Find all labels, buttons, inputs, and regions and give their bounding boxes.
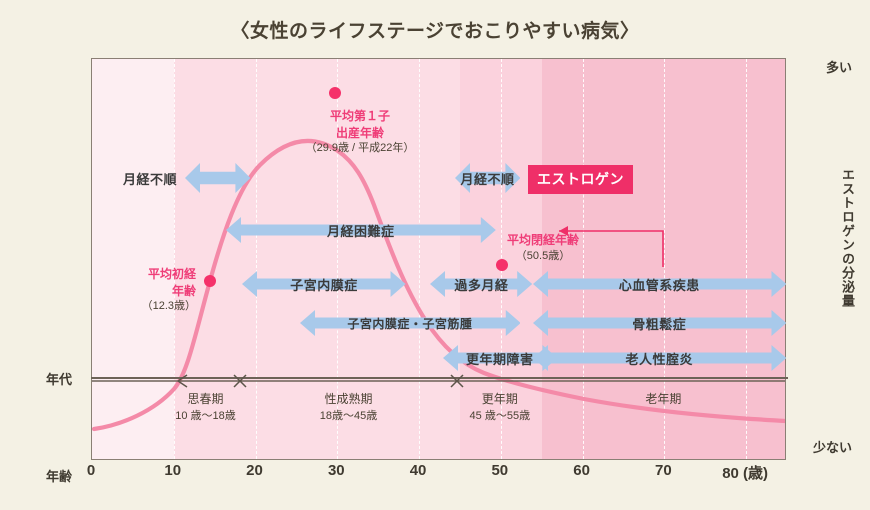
- life-stage-axis: [91, 378, 786, 382]
- condition-label: 月経不順: [455, 163, 520, 193]
- condition-bar: 月経困難症: [226, 217, 496, 243]
- condition-bar: 老人性腟炎: [533, 345, 786, 371]
- stage-name: 性成熟期: [279, 390, 419, 408]
- x-tick-8: 80 (歳): [722, 462, 768, 483]
- annotation-sub: （29.9歳 / 平成22年）: [272, 141, 448, 156]
- x-tick-7: 70: [655, 462, 672, 479]
- annotation-line1: 平均初経: [98, 266, 196, 283]
- stage-range: 18歳〜45歳: [279, 408, 419, 425]
- stage-range: 10 歳〜18歳: [135, 408, 275, 425]
- page-title: 〈女性のライフステージでおこりやすい病気〉: [0, 16, 870, 43]
- stage-range: 45 歳〜55歳: [430, 408, 570, 425]
- stage-label-0: 思春期10 歳〜18歳: [135, 390, 275, 425]
- annotation-line1: 平均第１子: [272, 108, 448, 125]
- annotation-first-childbirth: 平均第１子 出産年齢 （29.9歳 / 平成22年）: [272, 108, 448, 156]
- x-tick-1: 10: [164, 462, 181, 479]
- condition-bar: 子宮内膜症・子宮筋腫: [300, 310, 521, 336]
- annotation-line1: 平均閉経年齢: [482, 232, 604, 249]
- condition-bar: 心血管系疾患: [533, 271, 786, 297]
- condition-label: 心血管系疾患: [533, 271, 786, 297]
- condition-label: 子宮内膜症: [242, 271, 406, 297]
- x-tick-3: 30: [328, 462, 345, 479]
- condition-label: 過多月経: [430, 271, 532, 297]
- condition-bar: 過多月経: [430, 271, 532, 297]
- marker-first-childbirth: [329, 87, 341, 99]
- annotation-sub: （50.5歳）: [482, 249, 604, 264]
- condition-bar: 子宮内膜症: [242, 271, 406, 297]
- axis-label-high: 多い: [826, 57, 852, 76]
- chart-root: 〈女性のライフステージでおこりやすい病気〉 月経不順月経不順月経困難症子宮内膜症…: [0, 0, 870, 510]
- condition-label: 老人性腟炎: [533, 345, 786, 371]
- axis-label-era: 年代: [46, 369, 72, 388]
- condition-bar: 骨粗鬆症: [533, 310, 786, 336]
- estrogen-legend-badge: エストロゲン: [528, 165, 633, 194]
- x-tick-5: 50: [491, 462, 508, 479]
- condition-bar: 月経不順: [185, 163, 250, 193]
- condition-label: 月経不順: [123, 163, 250, 193]
- annotation-menarche: 平均初経 年齢 （12.3歳）: [98, 266, 196, 314]
- axis-label-age: 年齢: [46, 466, 72, 485]
- stage-label-3: 老年期: [593, 390, 733, 408]
- condition-bar: 月経不順: [455, 163, 520, 193]
- axis-label-low: 少ない: [813, 437, 852, 456]
- marker-menarche: [204, 275, 216, 287]
- stage-divider-mark: [231, 372, 249, 390]
- condition-label: 骨粗鬆症: [533, 310, 786, 336]
- x-tick-6: 60: [573, 462, 590, 479]
- stage-divider-mark: [176, 372, 194, 390]
- x-tick-0: 0: [87, 462, 95, 479]
- x-axis-ticks: 01020304050607080 (歳): [91, 462, 851, 486]
- annotation-line2: 年齢: [98, 283, 196, 300]
- annotation-sub: （12.3歳）: [98, 299, 196, 314]
- condition-label: 月経困難症: [226, 217, 496, 243]
- stage-name: 更年期: [430, 390, 570, 408]
- x-tick-4: 40: [410, 462, 427, 479]
- x-tick-2: 20: [246, 462, 263, 479]
- stage-name: 思春期: [135, 390, 275, 408]
- stage-label-1: 性成熟期18歳〜45歳: [279, 390, 419, 425]
- annotation-menopause: 平均閉経年齢 （50.5歳）: [482, 232, 604, 264]
- axis-title-estrogen-secretion: エストロゲンの分泌量: [838, 168, 857, 308]
- stage-label-2: 更年期45 歳〜55歳: [430, 390, 570, 425]
- stage-divider-mark: [448, 372, 466, 390]
- annotation-line2: 出産年齢: [272, 125, 448, 142]
- stage-name: 老年期: [593, 390, 733, 408]
- condition-label: 子宮内膜症・子宮筋腫: [300, 310, 521, 336]
